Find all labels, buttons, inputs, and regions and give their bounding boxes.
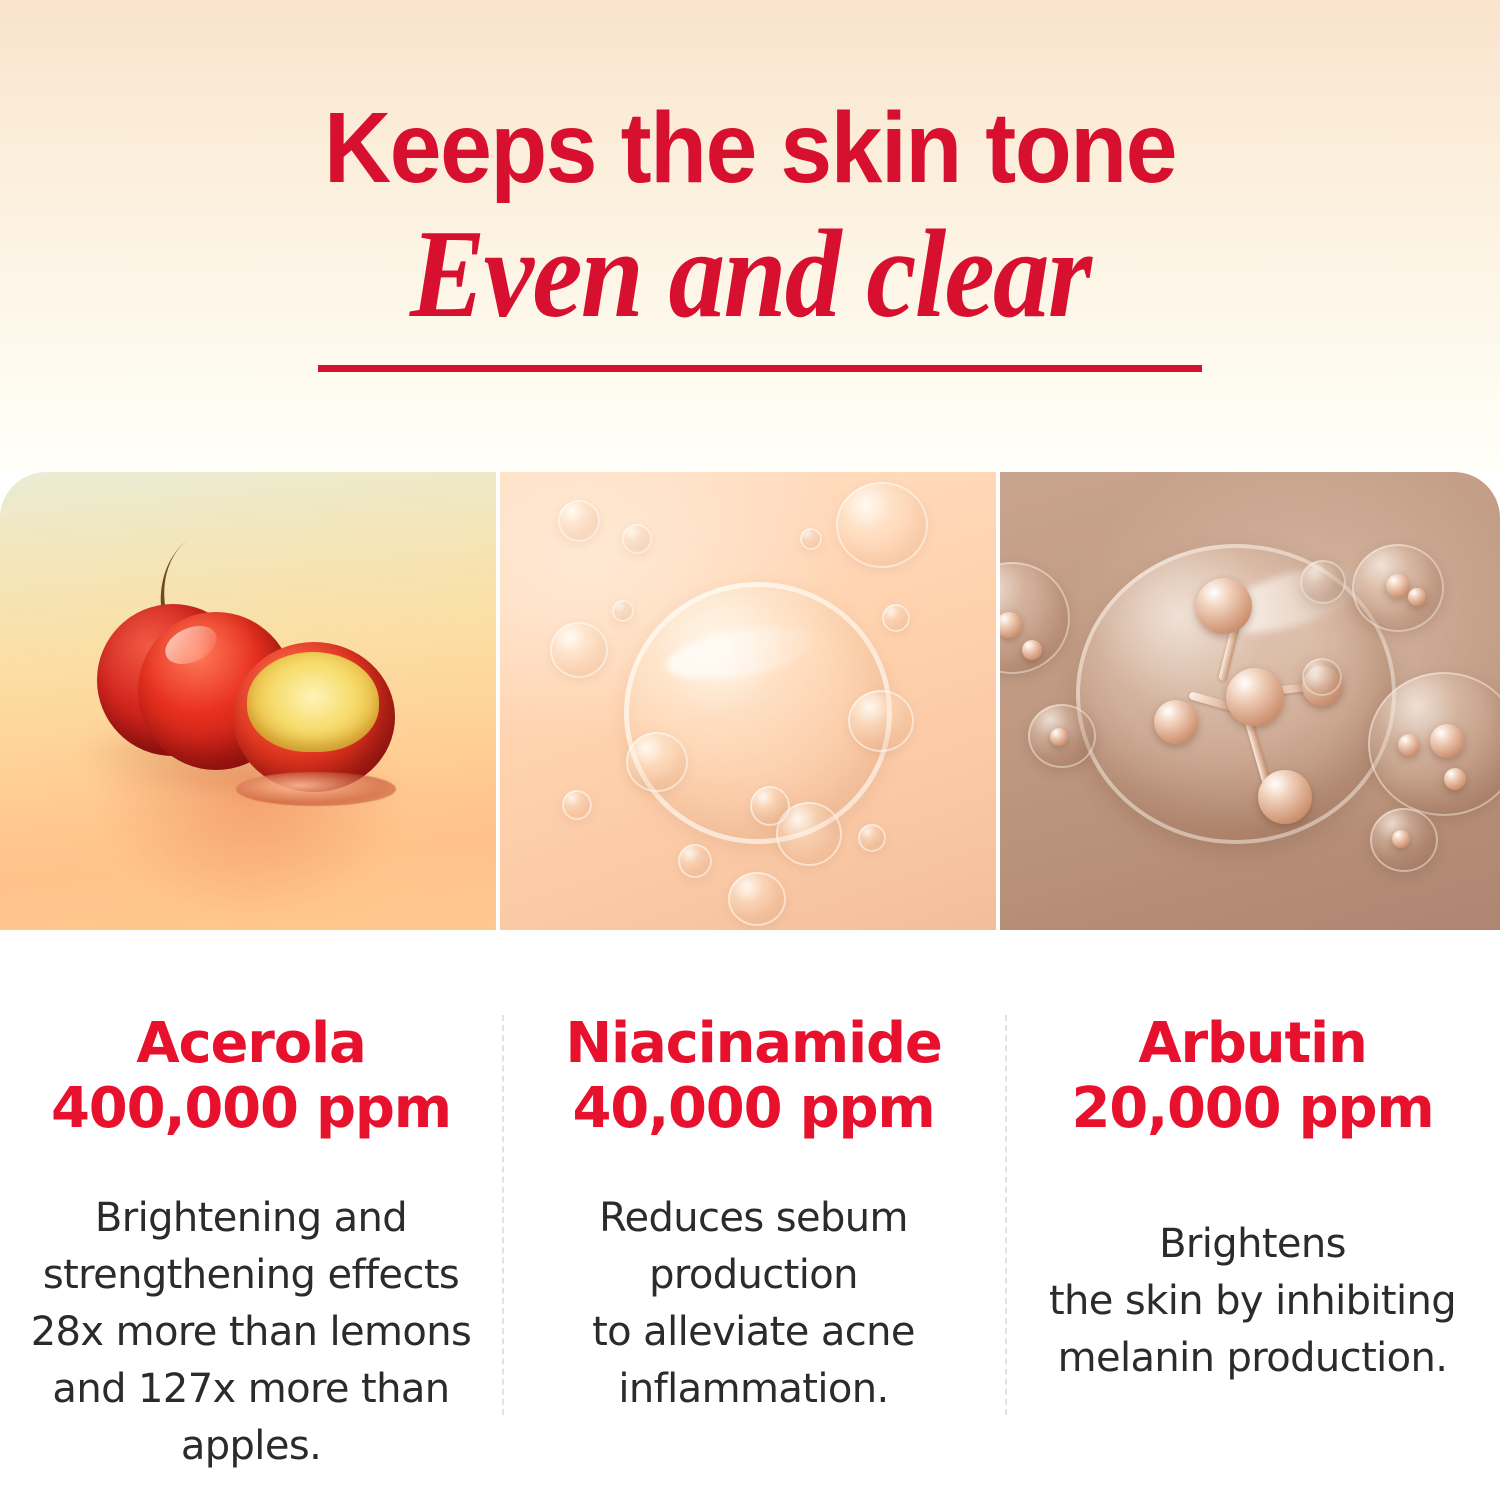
serum-bubble <box>678 844 712 878</box>
molecule-atom <box>1050 728 1068 746</box>
ingredient-name: Acerola <box>0 1012 502 1076</box>
ingredient-info-strip: Acerola 400,000 ppm Brightening and stre… <box>0 930 1500 1500</box>
headline-line-1: Keeps the skin tone <box>53 96 1448 200</box>
serum-bubble <box>622 524 652 554</box>
ingredient-ppm: 400,000 ppm <box>0 1076 502 1142</box>
ingredient-name: Niacinamide <box>502 1012 1005 1076</box>
ingredient-ppm: 40,000 ppm <box>502 1076 1005 1142</box>
serum-bubble <box>626 732 688 792</box>
ingredient-column-arbutin: Arbutin 20,000 ppm Brightens the skin by… <box>1005 930 1500 1500</box>
serum-bubble <box>562 790 592 820</box>
ingredient-ppm: 20,000 ppm <box>1005 1076 1500 1142</box>
ingredient-column-niacinamide: Niacinamide 40,000 ppm Reduces sebum pro… <box>502 930 1005 1500</box>
serum-bubble <box>882 604 910 632</box>
cherry-halved <box>233 642 395 792</box>
cherry-flesh <box>247 652 379 752</box>
headline-block: Keeps the skin tone Even and clear <box>0 0 1500 338</box>
ingredient-description: Brightening and strengthening effects 28… <box>0 1190 502 1475</box>
serum-bubble <box>848 690 914 752</box>
serum-bubble <box>800 528 822 550</box>
serum-bubble <box>750 786 790 826</box>
molecule-atom <box>1392 830 1410 848</box>
molecule-atom <box>1154 700 1198 744</box>
molecule-atom <box>1444 768 1466 790</box>
molecule-atom <box>1226 668 1284 726</box>
molecule-atom <box>1196 578 1252 634</box>
ingredient-name: Arbutin <box>1005 1012 1500 1076</box>
ingredient-column-acerola: Acerola 400,000 ppm Brightening and stre… <box>0 930 502 1500</box>
headline-line-2: Even and clear <box>75 212 1425 338</box>
molecule-atom <box>1398 734 1420 756</box>
serum-bubbles-photo <box>500 472 996 930</box>
serum-bubble <box>612 600 634 622</box>
molecule-atom <box>1022 640 1042 660</box>
molecule-bubbles-photo <box>1000 472 1500 930</box>
hero-banner: Keeps the skin tone Even and clear <box>0 0 1500 472</box>
ingredient-description: Reduces sebum production to alleviate ac… <box>502 1190 1005 1418</box>
molecule-atom <box>1408 588 1426 606</box>
molecule-atom <box>1430 724 1464 758</box>
cherry-juice-puddle <box>236 772 396 806</box>
ingredient-description: Brightens the skin by inhibiting melanin… <box>1005 1216 1500 1387</box>
serum-bubble <box>728 872 786 926</box>
serum-bubble <box>558 500 600 542</box>
headline-underline-rule <box>318 365 1202 372</box>
molecule-bubble <box>1300 560 1346 604</box>
molecule-atom <box>1258 770 1312 824</box>
ingredient-image-strip <box>0 472 1500 930</box>
acerola-cherry-photo <box>0 472 496 930</box>
molecule-atom <box>1386 574 1410 598</box>
serum-bubble <box>836 482 928 568</box>
serum-bubble <box>858 824 886 852</box>
serum-bubble <box>550 622 608 678</box>
molecule-bubble <box>1302 658 1342 696</box>
